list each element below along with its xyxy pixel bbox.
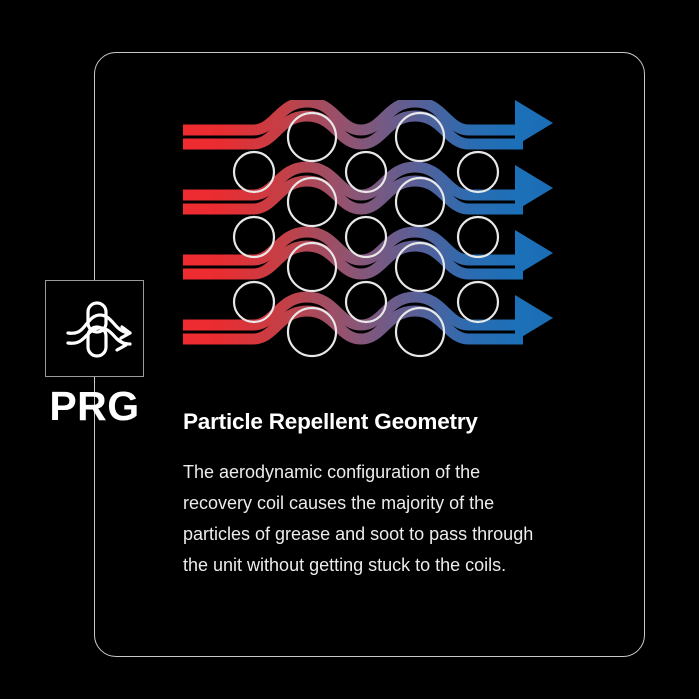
- flow-arrow-2: [515, 165, 553, 211]
- coil-tube: [458, 152, 498, 192]
- flow-arrow-4: [515, 295, 553, 341]
- coil-tube: [234, 217, 274, 257]
- flow-band-1: [183, 100, 553, 146]
- coil-tube: [458, 217, 498, 257]
- infographic-canvas: PRG Particle Repellent Geometry The aero…: [0, 0, 699, 699]
- coil-tube: [346, 152, 386, 192]
- coil-tube: [346, 217, 386, 257]
- feature-title: Particle Repellent Geometry: [183, 408, 553, 435]
- coil-tube-row-small: [234, 152, 498, 322]
- feature-description: The aerodynamic configuration of the rec…: [183, 457, 543, 581]
- coil-tube: [346, 282, 386, 322]
- coil-tube: [458, 282, 498, 322]
- icon-tile: [45, 280, 144, 377]
- feature-badge: PRG: [45, 280, 144, 427]
- flow-arrow-1: [515, 100, 553, 146]
- airflow-through-coil-diagram: [175, 100, 565, 370]
- airflow-particle-repellent-icon: [46, 281, 145, 378]
- flow-arrow-3: [515, 230, 553, 276]
- badge-code: PRG: [45, 386, 144, 427]
- feature-text-block: Particle Repellent Geometry The aerodyna…: [183, 408, 553, 581]
- coil-tube: [234, 282, 274, 322]
- coil-tube: [234, 152, 274, 192]
